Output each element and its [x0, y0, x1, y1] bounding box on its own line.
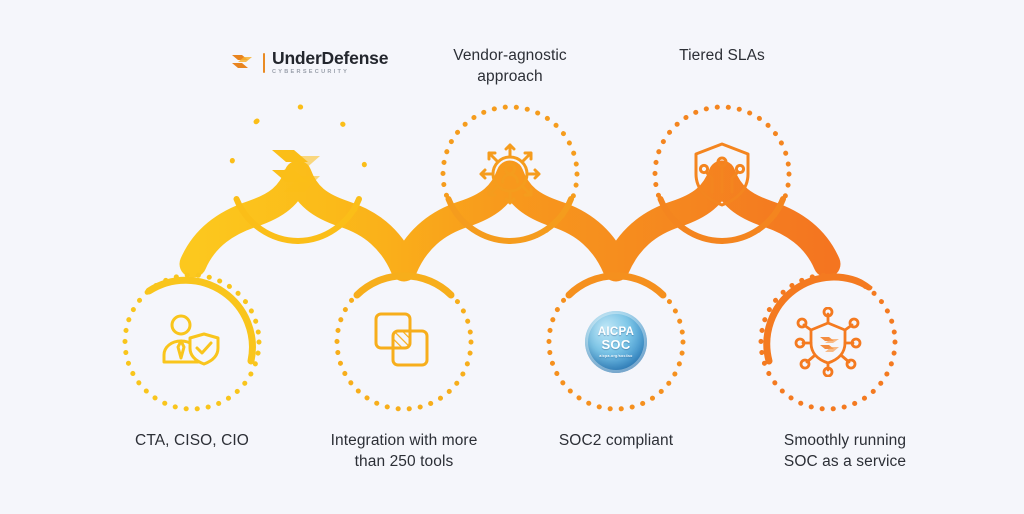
logo-wordmark: UnderDefense — [272, 50, 388, 68]
underdefense-logo: UnderDefense CYBERSECURITY — [230, 50, 388, 76]
executive-with-shield-check-icon — [159, 312, 225, 372]
shield-circuit-icon — [690, 140, 754, 208]
soc-badge-line2: SOC — [601, 337, 630, 352]
node-icon: AICPA SOC aicpa.org/soc4so — [545, 271, 687, 413]
node-icon — [121, 271, 263, 413]
node-soc-as-a-service[interactable] — [757, 271, 899, 413]
node-icon — [757, 271, 899, 413]
node-tiered-slas[interactable] — [651, 103, 793, 245]
node-underdefense-brand[interactable] — [227, 103, 369, 245]
node-icon — [651, 103, 793, 245]
user-network-arrows-icon — [476, 140, 544, 208]
logo-tagline: CYBERSECURITY — [272, 70, 388, 76]
label-soc2-compliant: SOC2 compliant — [528, 430, 704, 451]
node-vendor-agnostic[interactable] — [439, 103, 581, 245]
aicpa-soc-badge: AICPA SOC aicpa.org/soc4so — [585, 311, 647, 373]
shield-network-nodes-icon — [793, 307, 863, 377]
logo-divider — [263, 53, 265, 73]
node-cta-ciso-cio[interactable] — [121, 271, 263, 413]
node-icon — [227, 103, 369, 245]
label-tiered-slas: Tiered SLAs — [634, 45, 810, 66]
underdefense-chevron-icon — [230, 52, 256, 74]
label-soc-as-a-service: Smoothly running SOC as a service — [757, 430, 933, 472]
node-icon — [333, 271, 475, 413]
label-cta-ciso-cio: CTA, CISO, CIO — [104, 430, 280, 451]
infographic-canvas: UnderDefense CYBERSECURITY — [0, 0, 1024, 514]
label-integration-tools: Integration with more than 250 tools — [313, 430, 495, 472]
overlapping-squares-integration-icon — [371, 309, 437, 375]
soc-badge-line3: aicpa.org/soc4so — [599, 354, 632, 358]
node-integration-tools[interactable] — [333, 271, 475, 413]
node-icon — [439, 103, 581, 245]
label-vendor-agnostic: Vendor-agnostic approach — [422, 45, 598, 87]
underdefense-chevron-icon — [266, 144, 330, 204]
node-soc2-compliant[interactable]: AICPA SOC aicpa.org/soc4so — [545, 271, 687, 413]
